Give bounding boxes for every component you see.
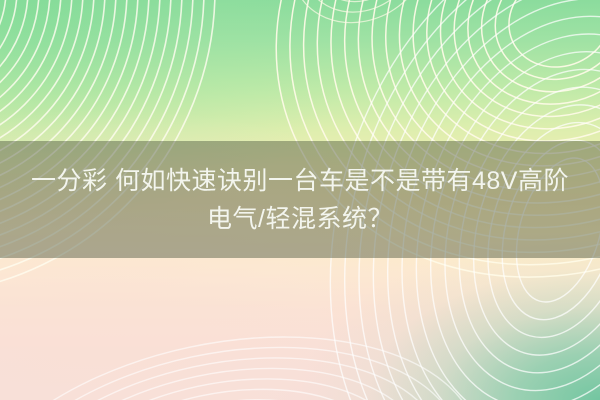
caption-line-1: 一分彩 何如快速诀别一台车是不是带有48V高阶 (25, 162, 575, 200)
decorative-banner: 一分彩 何如快速诀别一台车是不是带有48V高阶 电气/轻混系统？ (0, 0, 600, 400)
caption-text-block: 一分彩 何如快速诀别一台车是不是带有48V高阶 电气/轻混系统？ (0, 141, 600, 258)
caption-line-2: 电气/轻混系统？ (201, 200, 399, 238)
